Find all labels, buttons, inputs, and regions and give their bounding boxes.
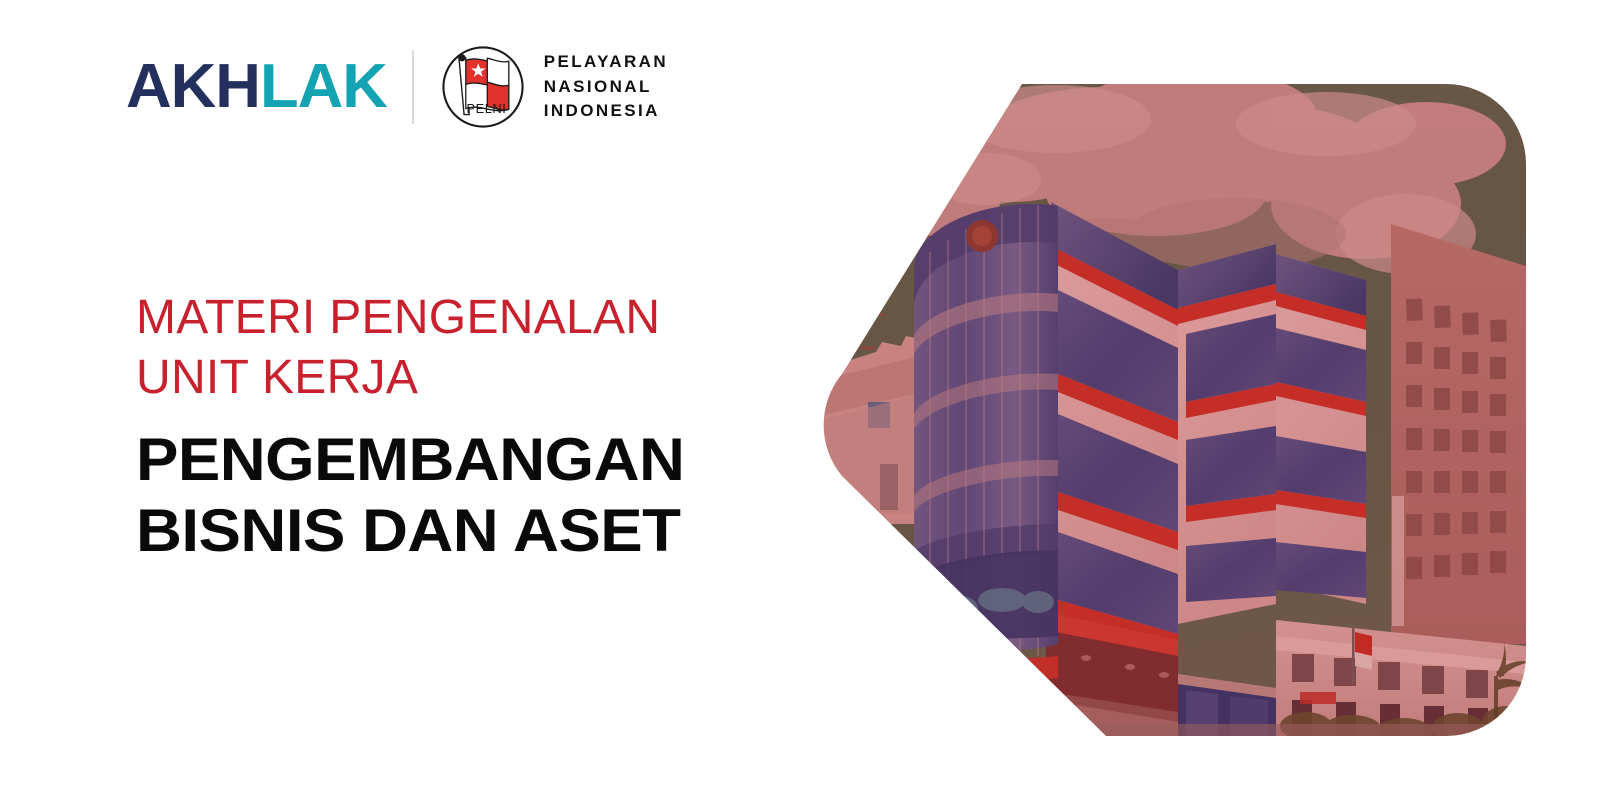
subtitle-line-1: MATERI PENGENALAN — [136, 288, 836, 348]
subtitle: MATERI PENGENALAN UNIT KERJA — [136, 288, 836, 409]
cylinder-tower — [912, 204, 1058, 680]
pelni-mark-label: PELNI — [466, 101, 506, 116]
pelni-logo: PELNI PELAYARAN NASIONAL INDONESIA — [440, 44, 668, 130]
pelni-wordmark-line-1: PELAYARAN — [544, 50, 668, 75]
headline-block: MATERI PENGENALAN UNIT KERJA PENGEMBANGA… — [136, 288, 836, 567]
subtitle-line-2: UNIT KERJA — [136, 348, 836, 408]
akhlak-logo-text-akh: AKH — [126, 56, 260, 118]
page-title-line-1: PENGEMBANGAN — [136, 425, 878, 496]
building-photo-illustration — [806, 84, 1526, 736]
building-photo — [806, 84, 1526, 736]
neighbor-building — [1391, 224, 1526, 644]
main-building-center — [1046, 202, 1178, 724]
page-title-line-2: BISNIS DAN ASET — [136, 496, 878, 567]
pelni-wordmark-line-3: INDONESIA — [544, 99, 668, 124]
pelni-flag-circle-icon: PELNI — [440, 44, 526, 130]
main-building-right-wings — [1178, 244, 1366, 624]
banner — [1392, 496, 1404, 626]
logo-divider — [412, 50, 414, 124]
pelni-wordmark-line-2: NASIONAL — [544, 75, 668, 100]
page-title: PENGEMBANGAN BISNIS DAN ASET — [136, 425, 836, 567]
akhlak-logo: AKHLAK — [126, 56, 387, 118]
akhlak-logo-text-lak: LAK — [260, 56, 387, 118]
logo-bar: AKHLAK PELNI PELAYARAN NASIONAL INDONESI… — [126, 44, 668, 130]
pelni-wordmark: PELAYARAN NASIONAL INDONESIA — [544, 50, 668, 124]
